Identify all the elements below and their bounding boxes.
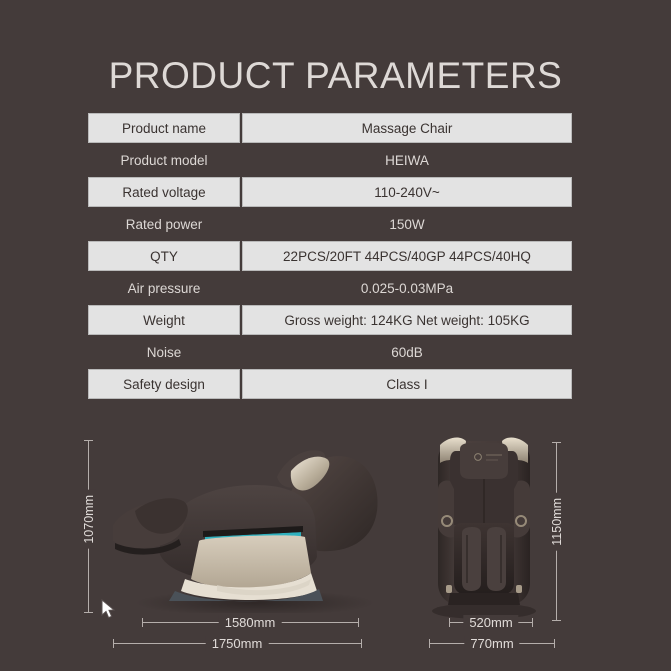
spec-label: Safety design bbox=[88, 369, 240, 399]
product-parameters-table: Product nameMassage ChairProduct modelHE… bbox=[88, 113, 572, 401]
spec-label: Rated voltage bbox=[88, 177, 240, 207]
spec-value: 60dB bbox=[242, 337, 572, 367]
massage-chair-side-view-image bbox=[105, 433, 390, 613]
side-inner-width-cap-right bbox=[358, 618, 359, 627]
side-height-label: 1070mm bbox=[82, 490, 96, 549]
table-row: Safety designClass I bbox=[88, 369, 572, 399]
spec-value: Gross weight: 124KG Net weight: 105KG bbox=[242, 305, 572, 335]
side-outer-width-cap-right bbox=[361, 639, 362, 648]
table-row: WeightGross weight: 124KG Net weight: 10… bbox=[88, 305, 572, 335]
front-inner-width-cap-right bbox=[532, 618, 533, 627]
spec-label: Noise bbox=[88, 337, 240, 367]
front-outer-width-cap-right bbox=[554, 639, 555, 648]
front-inner-width-cap-left bbox=[449, 618, 450, 627]
side-height-cap-top bbox=[84, 440, 93, 441]
table-row: QTY22PCS/20FT 44PCS/40GP 44PCS/40HQ bbox=[88, 241, 572, 271]
side-height-cap-bottom bbox=[84, 612, 93, 613]
table-row: Air pressure0.025-0.03MPa bbox=[88, 273, 572, 303]
front-outer-width-label: 770mm bbox=[464, 636, 519, 651]
side-outer-width-label: 1750mm bbox=[206, 636, 269, 651]
mouse-pointer-icon bbox=[100, 598, 118, 622]
product-dimension-figures: 1070mm 1580mm 1750mm bbox=[0, 415, 671, 671]
spec-value: HEIWA bbox=[242, 145, 572, 175]
spec-value: 0.025-0.03MPa bbox=[242, 273, 572, 303]
spec-value: Class I bbox=[242, 369, 572, 399]
front-height-label: 1150mm bbox=[550, 493, 564, 551]
table-row: Product modelHEIWA bbox=[88, 145, 572, 175]
spec-label: Product model bbox=[88, 145, 240, 175]
spec-label: Weight bbox=[88, 305, 240, 335]
spec-value: 150W bbox=[242, 209, 572, 239]
side-inner-width-label: 1580mm bbox=[219, 615, 282, 630]
spec-value: 22PCS/20FT 44PCS/40GP 44PCS/40HQ bbox=[242, 241, 572, 271]
table-row: Product nameMassage Chair bbox=[88, 113, 572, 143]
front-height-cap-top bbox=[552, 442, 561, 443]
side-inner-width-cap-left bbox=[142, 618, 143, 627]
massage-chair-front-view-image bbox=[424, 433, 544, 619]
spec-label: Rated power bbox=[88, 209, 240, 239]
side-outer-width-cap-left bbox=[113, 639, 114, 648]
front-outer-width-cap-left bbox=[429, 639, 430, 648]
spec-value: Massage Chair bbox=[242, 113, 572, 143]
spec-label: Air pressure bbox=[88, 273, 240, 303]
spec-value: 110-240V~ bbox=[242, 177, 572, 207]
table-row: Noise60dB bbox=[88, 337, 572, 367]
table-row: Rated power150W bbox=[88, 209, 572, 239]
spec-label: QTY bbox=[88, 241, 240, 271]
page-title: PRODUCT PARAMETERS bbox=[0, 55, 671, 97]
table-row: Rated voltage110-240V~ bbox=[88, 177, 572, 207]
front-inner-width-label: 520mm bbox=[463, 615, 518, 630]
front-height-cap-bottom bbox=[552, 620, 561, 621]
spec-label: Product name bbox=[88, 113, 240, 143]
